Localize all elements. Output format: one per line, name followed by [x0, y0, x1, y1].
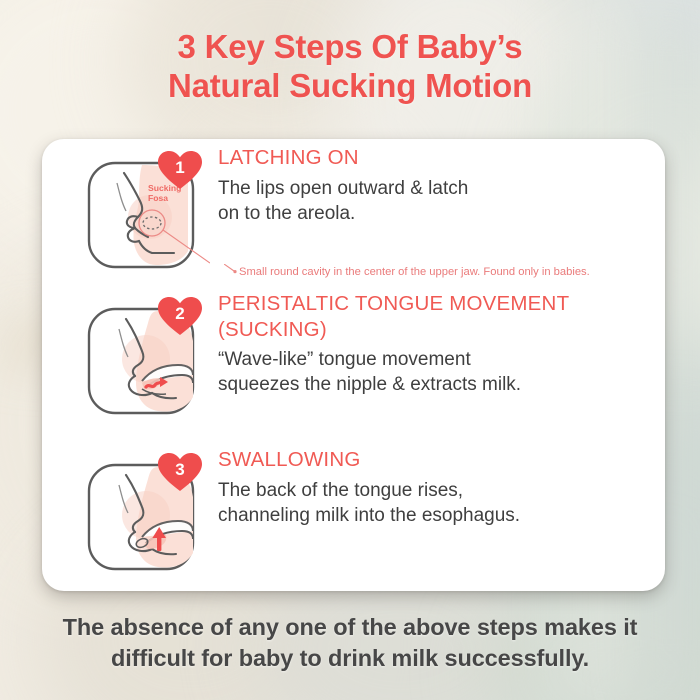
step-3-body-line-1: The back of the tongue rises,	[218, 478, 658, 503]
footer-caption: The absence of any one of the above step…	[0, 612, 700, 673]
step-1-note: Small round cavity in the center of the …	[224, 264, 665, 279]
footer-caption-line-2: difficult for baby to drink milk success…	[0, 643, 700, 674]
step-2-title-line-2: (SUCKING)	[218, 317, 658, 343]
note-pointer-icon	[224, 264, 237, 274]
step-2-text-block: PERISTALTIC TONGUE MOVEMENT (SUCKING) “W…	[218, 291, 658, 397]
step-3-title: SWALLOWING	[218, 447, 658, 473]
step-1-title: LATCHING ON	[218, 145, 658, 171]
sucking-fosa-label-line-2: Fosa	[148, 193, 168, 203]
step-2-illustration: 2	[86, 297, 210, 417]
svg-text:2: 2	[175, 304, 184, 323]
step-item: 3 SWALLOWING The back of the tongue rise…	[42, 447, 665, 587]
step-2-title: PERISTALTIC TONGUE MOVEMENT (SUCKING)	[218, 291, 658, 342]
step-1-text-block: LATCHING ON The lips open outward & latc…	[218, 145, 658, 226]
step-3-illustration: 3	[86, 453, 210, 573]
step-3-text-block: SWALLOWING The back of the tongue rises,…	[218, 447, 658, 528]
step-3-body-line-2: channeling milk into the esophagus.	[218, 503, 658, 528]
step-1-body: The lips open outward & latch on to the …	[218, 176, 658, 226]
page-title-line-2: Natural Sucking Motion	[0, 67, 700, 106]
step-2-body: “Wave-like” tongue movement squeezes the…	[218, 347, 658, 397]
step-1-body-line-1: The lips open outward & latch	[218, 176, 658, 201]
step-item: Sucking Fosa 1 LATCHING ON The lips open…	[42, 145, 665, 285]
step-1-body-line-2: on to the areola.	[218, 201, 658, 226]
step-3-body: The back of the tongue rises, channeling…	[218, 478, 658, 528]
step-1-illustration: Sucking Fosa 1	[86, 151, 210, 271]
page-title-line-1: 3 Key Steps Of Baby’s	[178, 28, 523, 65]
step-item: 2 PERISTALTIC TONGUE MOVEMENT (SUCKING) …	[42, 291, 665, 441]
footer-caption-line-1: The absence of any one of the above step…	[63, 614, 638, 640]
svg-text:3: 3	[175, 460, 184, 479]
step-2-body-line-1: “Wave-like” tongue movement	[218, 347, 658, 372]
page-title: 3 Key Steps Of Baby’s Natural Sucking Mo…	[0, 28, 700, 106]
step-1-note-text: Small round cavity in the center of the …	[239, 266, 590, 278]
steps-card: Sucking Fosa 1 LATCHING ON The lips open…	[42, 139, 665, 591]
step-2-title-line-1: PERISTALTIC TONGUE MOVEMENT	[218, 291, 658, 317]
step-2-body-line-2: squeezes the nipple & extracts milk.	[218, 372, 658, 397]
svg-text:1: 1	[175, 158, 184, 177]
